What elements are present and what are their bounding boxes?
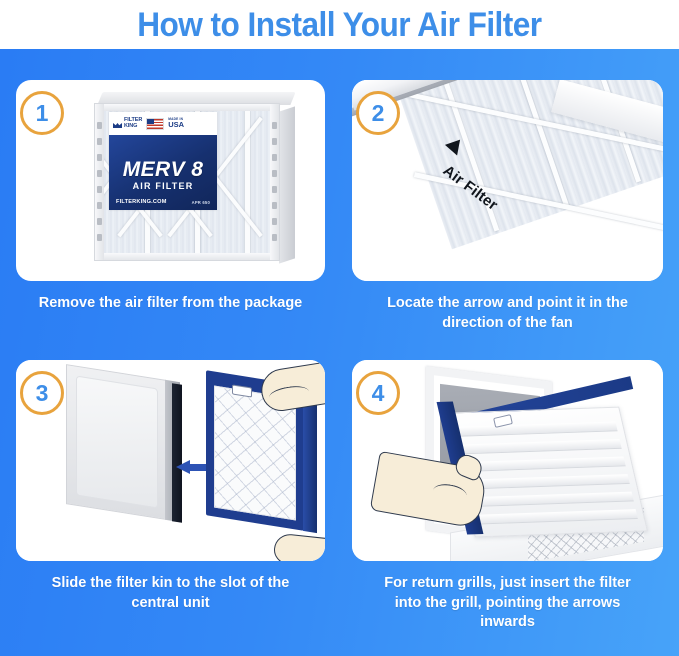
step-caption-4-line-3: inwards xyxy=(352,613,663,633)
step-caption-2: Locate the arrow and point it in the dir… xyxy=(352,294,663,333)
steps-canvas: FILTER KING MADE IN USA xyxy=(0,49,679,656)
filter-frame-right xyxy=(270,104,279,260)
step-caption-2-line-1: Locate the arrow and point it in the xyxy=(352,294,663,314)
apr-rating: APR 650 xyxy=(192,200,210,205)
merv8-filter-photo: FILTER KING MADE IN USA xyxy=(94,92,299,267)
product-type: AIR FILTER xyxy=(133,182,194,191)
filter-king-logo: FILTER KING xyxy=(113,118,142,130)
central-unit-slot xyxy=(76,376,158,509)
step-caption-3-line-2: central unit xyxy=(16,594,325,614)
step-caption-3-line-1: Slide the filter kin to the slot of the xyxy=(16,574,325,594)
website-url: FILTERKING.COM xyxy=(116,199,167,205)
step-badge-2: 2 xyxy=(356,91,400,135)
brand-name: FILTER KING xyxy=(124,118,142,130)
filter-frame-bottom xyxy=(95,253,279,260)
step-caption-3: Slide the filter kin to the slot of the … xyxy=(16,574,325,613)
product-label-body: MERV 8 AIR FILTER FILTERKING.COM APR 650 xyxy=(109,135,217,210)
step-badge-1: 1 xyxy=(20,91,64,135)
filter-frame-left xyxy=(95,104,104,260)
crown-icon xyxy=(113,119,122,128)
product-label-footer: FILTERKING.COM APR 650 xyxy=(109,199,217,205)
filter-frame-top xyxy=(95,104,279,111)
step-badge-3: 3 xyxy=(20,371,64,415)
usa-flag-icon xyxy=(146,118,164,130)
step-caption-4-line-1: For return grills, just insert the filte… xyxy=(352,574,663,594)
brand-line-2: KING xyxy=(124,123,137,129)
merv-rating: MERV 8 xyxy=(123,159,204,180)
step-caption-4: For return grills, just insert the filte… xyxy=(352,574,663,633)
filter-blue-side xyxy=(303,386,317,533)
filter-front-face: FILTER KING MADE IN USA xyxy=(94,103,280,261)
page-header: How to Install Your Air Filter xyxy=(0,0,679,49)
product-label-header: FILTER KING MADE IN USA xyxy=(109,112,217,135)
slot-opening xyxy=(172,383,182,523)
usa-label: USA xyxy=(168,120,184,129)
step-caption-4-line-2: into the grill, pointing the arrows xyxy=(352,594,663,614)
product-label: FILTER KING MADE IN USA xyxy=(109,112,217,210)
step-badge-4: 4 xyxy=(356,371,400,415)
made-in-usa-text: MADE IN USA xyxy=(168,118,184,128)
hand-top xyxy=(258,360,325,414)
page-title: How to Install Your Air Filter xyxy=(137,8,541,42)
infographic-page: How to Install Your Air Filter xyxy=(0,0,679,656)
step-caption-1: Remove the air filter from the package xyxy=(16,294,325,314)
step-caption-2-line-2: direction of the fan xyxy=(352,314,663,334)
hand-bottom xyxy=(273,533,325,561)
filter-side-edge xyxy=(279,106,295,263)
